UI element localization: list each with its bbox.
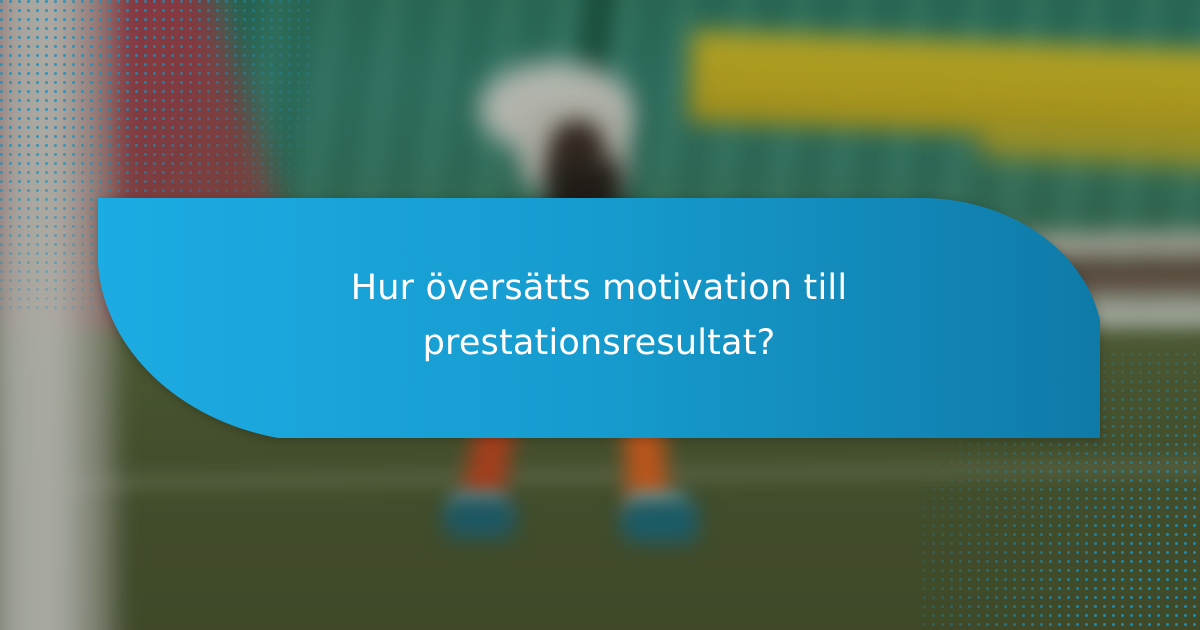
- social-card: Hur översätts motivation till prestation…: [0, 0, 1200, 630]
- title-container: Hur översätts motivation till prestation…: [98, 198, 1100, 438]
- page-title: Hur översätts motivation till prestation…: [339, 261, 859, 370]
- title-banner: Hur översätts motivation till prestation…: [98, 198, 1100, 438]
